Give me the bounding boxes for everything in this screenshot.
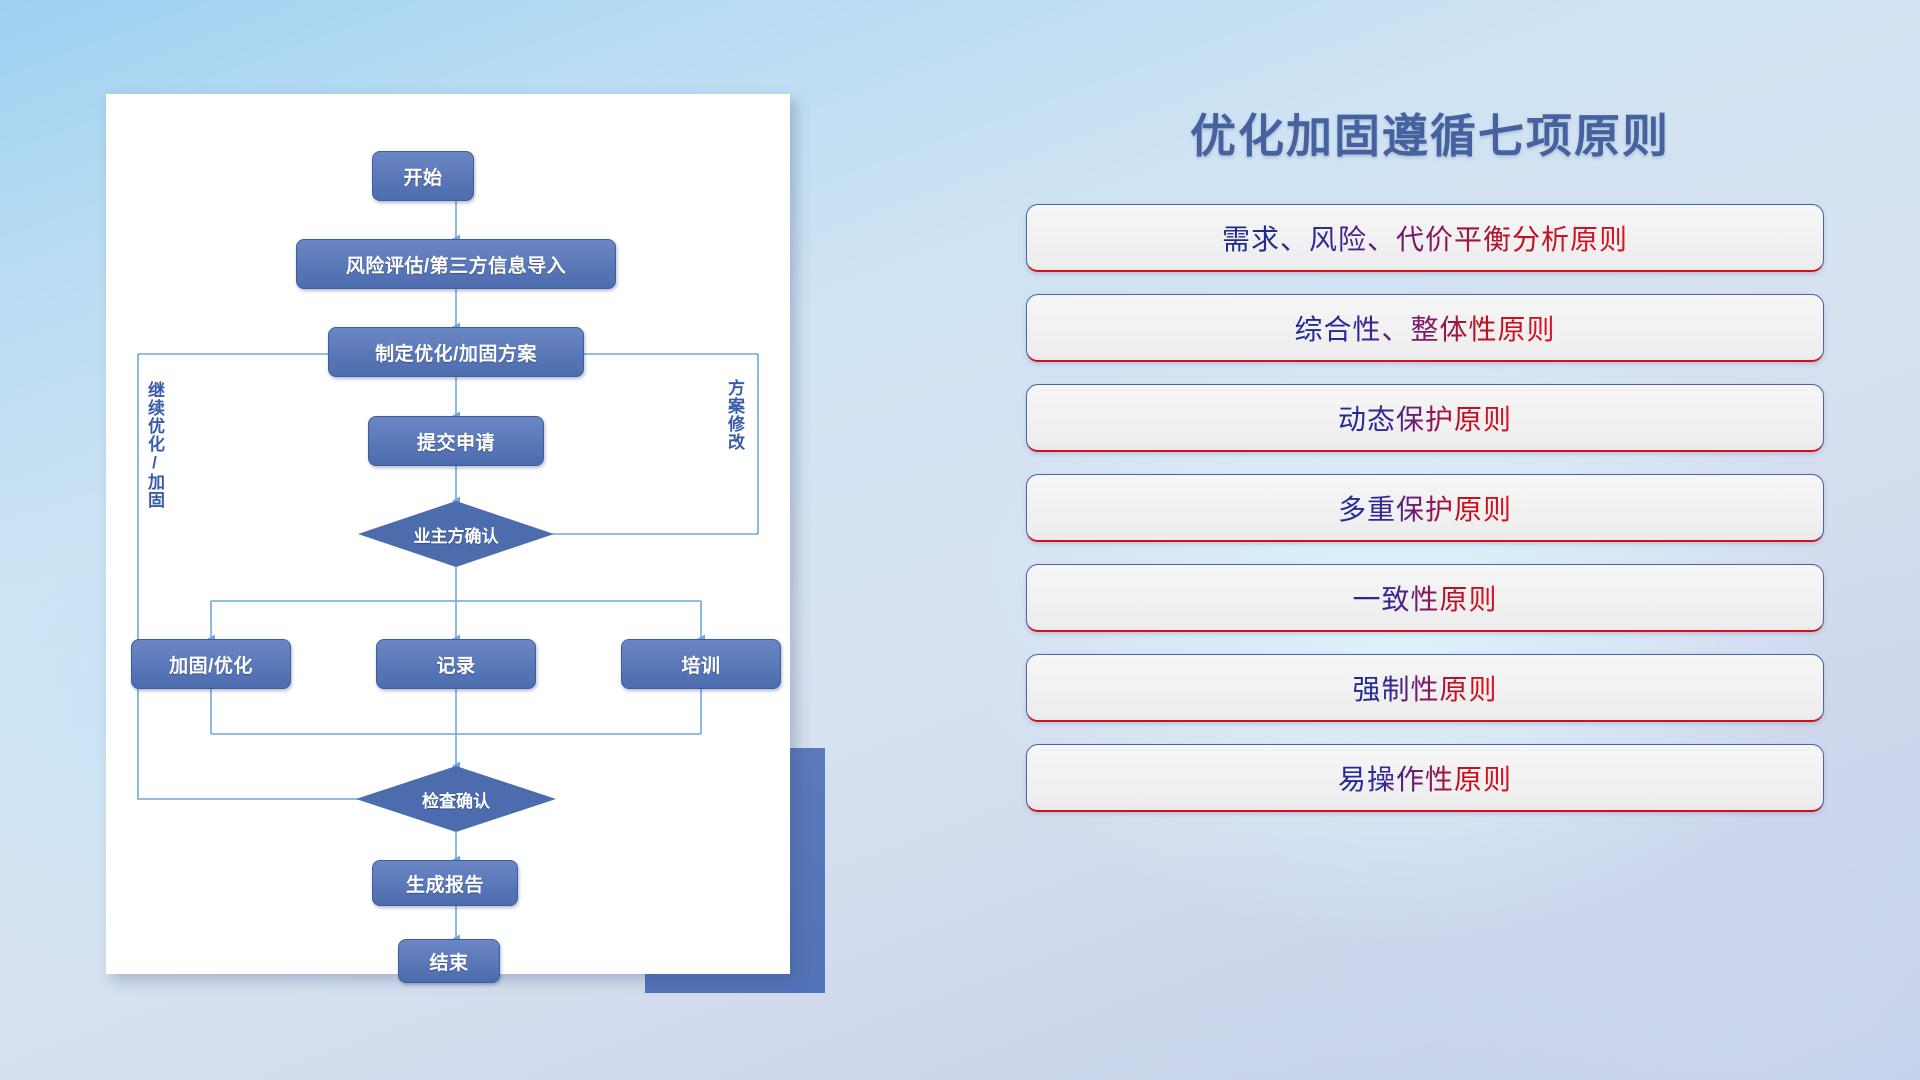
principle-item-7[interactable]: 易操作性原则 [1026,744,1824,812]
flow-node-owner-confirm-label: 业主方确认 [414,522,499,547]
flow-node-plan-label: 制定优化/加固方案 [375,339,537,366]
flow-node-training-label: 培训 [681,651,720,678]
flow-node-record[interactable]: 记录 [376,639,536,689]
principle-item-3-label: 动态保护原则 [1338,398,1512,438]
flow-node-generate-report[interactable]: 生成报告 [372,860,518,906]
flow-label-plan-revision: 方案修改 [726,379,743,451]
principle-item-6-label: 强制性原则 [1352,668,1497,708]
principle-item-2[interactable]: 综合性、整体性原则 [1026,294,1824,362]
flow-node-training[interactable]: 培训 [621,639,781,689]
panel-title: 优化加固遵循七项原则 [1020,100,1830,166]
flow-node-owner-confirm[interactable]: 业主方确认 [358,501,554,567]
flow-node-submit-application[interactable]: 提交申请 [368,416,544,466]
flowchart-card: 开始 风险评估/第三方信息导入 制定优化/加固方案 提交申请 业主方确认 加固/… [106,94,790,974]
principle-item-5[interactable]: 一致性原则 [1026,564,1824,632]
flow-node-start[interactable]: 开始 [372,151,474,201]
principle-item-4[interactable]: 多重保护原则 [1026,474,1824,542]
principle-item-6[interactable]: 强制性原则 [1026,654,1824,722]
flow-node-risk-assessment-label: 风险评估/第三方信息导入 [346,251,566,278]
flow-node-plan[interactable]: 制定优化/加固方案 [328,327,584,377]
flow-node-risk-assessment[interactable]: 风险评估/第三方信息导入 [296,239,616,289]
principle-item-7-label: 易操作性原则 [1338,758,1512,798]
principle-item-1-label: 需求、风险、代价平衡分析原则 [1222,218,1628,258]
principle-item-5-label: 一致性原则 [1352,578,1497,618]
flowchart-area: 开始 风险评估/第三方信息导入 制定优化/加固方案 提交申请 业主方确认 加固/… [106,94,790,974]
flow-node-submit-application-label: 提交申请 [417,428,495,455]
flow-node-end-label: 结束 [429,948,468,975]
principle-item-3[interactable]: 动态保护原则 [1026,384,1824,452]
slide-canvas: 开始 风险评估/第三方信息导入 制定优化/加固方案 提交申请 业主方确认 加固/… [0,0,1920,1080]
flow-node-check-confirm-label: 检查确认 [422,787,490,812]
principles-panel: 优化加固遵循七项原则 需求、风险、代价平衡分析原则 综合性、整体性原则 动态保护… [1020,100,1830,812]
flow-node-reinforce-label: 加固/优化 [169,651,253,678]
flow-node-record-label: 记录 [436,651,475,678]
principle-item-1[interactable]: 需求、风险、代价平衡分析原则 [1026,204,1824,272]
principle-item-2-label: 综合性、整体性原则 [1294,308,1555,348]
flow-label-continue-optimize: 继续优化/加固 [146,381,163,509]
flow-node-check-confirm[interactable]: 检查确认 [356,766,556,832]
principle-item-4-label: 多重保护原则 [1338,488,1512,528]
flow-node-end[interactable]: 结束 [398,939,500,983]
flow-node-reinforce[interactable]: 加固/优化 [131,639,291,689]
flow-node-start-label: 开始 [403,163,442,190]
flow-node-generate-report-label: 生成报告 [406,870,484,897]
principles-list: 需求、风险、代价平衡分析原则 综合性、整体性原则 动态保护原则 多重保护原则 一… [1020,204,1830,812]
